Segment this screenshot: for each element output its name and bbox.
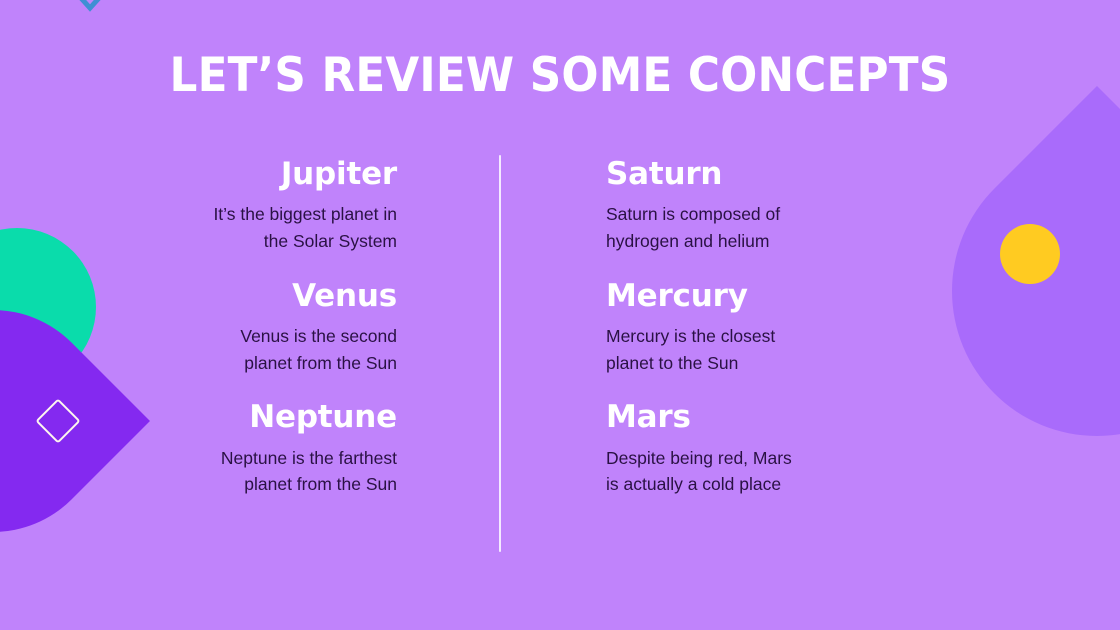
concept-item-saturn: Saturn Saturn is composed of hydrogen an…	[606, 155, 780, 255]
concept-description-line: Saturn is composed of	[606, 201, 780, 228]
concept-title: Saturn	[606, 155, 780, 193]
concept-item-neptune: Neptune Neptune is the farthest planet f…	[221, 398, 397, 498]
concept-title: Mars	[606, 398, 792, 436]
concept-title: Neptune	[221, 398, 397, 436]
concept-description-line: planet from the Sun	[240, 350, 397, 377]
concept-description-line: the Solar System	[213, 228, 397, 255]
concept-description: It’s the biggest planet in the Solar Sys…	[213, 201, 397, 254]
concepts-columns: Jupiter It’s the biggest planet in the S…	[0, 155, 1120, 555]
concept-description-line: Neptune is the farthest	[221, 445, 397, 472]
concept-description: Venus is the second planet from the Sun	[240, 323, 397, 376]
concept-title: Venus	[240, 277, 397, 315]
slide-content: Let’s Review Some Concepts Jupiter It’s …	[0, 0, 1120, 630]
concept-description: Despite being red, Mars is actually a co…	[606, 445, 792, 498]
concept-description-line: is actually a cold place	[606, 471, 792, 498]
presentation-slide: Let’s Review Some Concepts Jupiter It’s …	[0, 0, 1120, 630]
concept-description-line: hydrogen and helium	[606, 228, 780, 255]
concept-item-jupiter: Jupiter It’s the biggest planet in the S…	[213, 155, 397, 255]
concept-description-line: planet from the Sun	[221, 471, 397, 498]
concepts-column-left: Jupiter It’s the biggest planet in the S…	[0, 155, 499, 498]
concept-title: Mercury	[606, 277, 775, 315]
concept-item-mercury: Mercury Mercury is the closest planet to…	[606, 277, 775, 377]
concept-item-mars: Mars Despite being red, Mars is actually…	[606, 398, 792, 498]
concept-description-line: Venus is the second	[240, 323, 397, 350]
concept-item-venus: Venus Venus is the second planet from th…	[240, 277, 397, 377]
concept-description-line: Mercury is the closest	[606, 323, 775, 350]
concept-description-line: Despite being red, Mars	[606, 445, 792, 472]
concept-description: Saturn is composed of hydrogen and heliu…	[606, 201, 780, 254]
page-title: Let’s Review Some Concepts	[39, 52, 1081, 99]
concept-title: Jupiter	[213, 155, 397, 193]
concept-description-line: planet to the Sun	[606, 350, 775, 377]
concept-description: Neptune is the farthest planet from the …	[221, 445, 397, 498]
concepts-column-right: Saturn Saturn is composed of hydrogen an…	[501, 155, 1000, 498]
concept-description-line: It’s the biggest planet in	[213, 201, 397, 228]
concept-description: Mercury is the closest planet to the Sun	[606, 323, 775, 376]
